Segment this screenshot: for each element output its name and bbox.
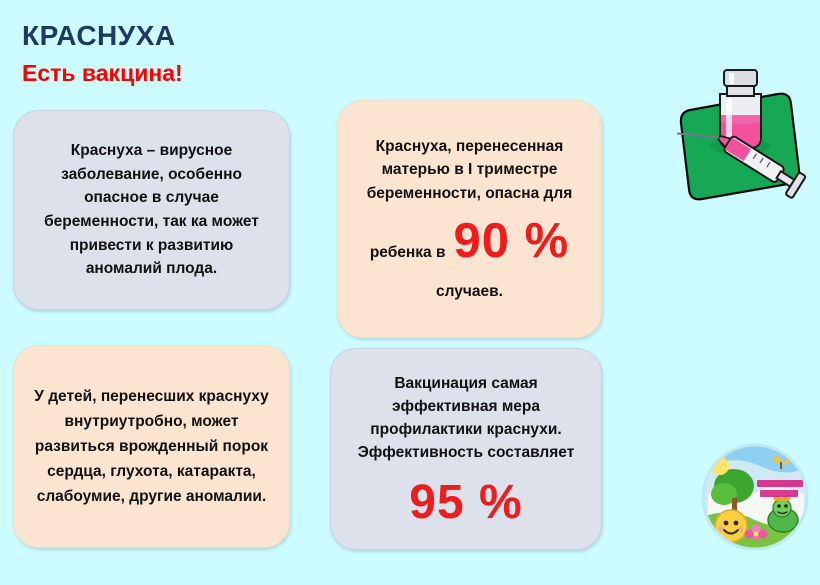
vaccine-vial-shape: [720, 70, 761, 148]
statistic-row: ребенка в 90 %: [370, 217, 569, 266]
page-subtitle: Есть вакцина!: [22, 60, 183, 87]
statistic-value: 90 %: [453, 217, 569, 266]
info-card-disease-description: Краснуха – вирусное заболевание, особенн…: [13, 110, 290, 310]
info-card-pregnancy-risk: Краснуха, перенесенная матерью в I триме…: [337, 100, 602, 338]
card-body-text: У детей, перенесших краснуху внутриутроб…: [28, 384, 275, 510]
kindergarten-logo: [700, 442, 810, 552]
statistic-tail-text: случаев.: [436, 280, 503, 303]
statistic-lead-text: ребенка в: [370, 241, 446, 264]
statistic-value: 95 %: [409, 479, 522, 527]
card-body-text: Краснуха – вирусное заболевание, особенн…: [32, 139, 271, 280]
poster-canvas: КРАСНУХА Есть вакцина! Краснуха – вирусн…: [0, 0, 820, 585]
vaccine-vial-and-syringe-illustration: [660, 58, 815, 213]
card-body-text: Краснуха, перенесенная матерью в I триме…: [352, 135, 587, 205]
info-card-vaccination-effectiveness: Вакцинация самая эффективная мера профил…: [330, 348, 602, 550]
info-card-congenital-complications: У детей, перенесших краснуху внутриутроб…: [13, 345, 290, 548]
page-title: КРАСНУХА: [22, 20, 176, 52]
card-body-text: Вакцинация самая эффективная мера профил…: [343, 372, 589, 465]
